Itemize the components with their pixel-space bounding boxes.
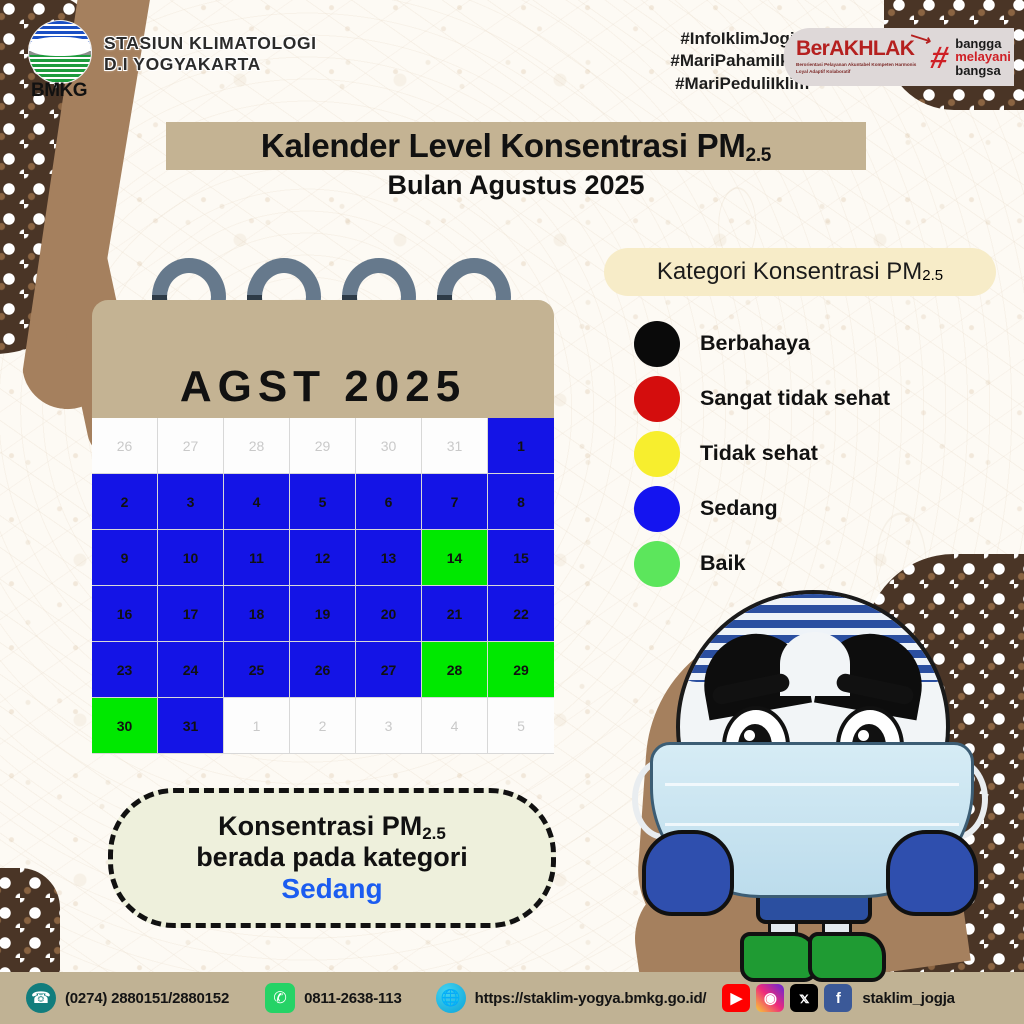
legend-color-dot <box>634 321 680 367</box>
mascot-shoe-left <box>740 932 818 982</box>
calendar-day-cell: 25 <box>224 642 290 698</box>
calendar-day-cell: 28 <box>224 418 290 474</box>
org-line-1: STASIUN KLIMATOLOGI <box>104 33 317 54</box>
footer-social: ▶ ◉ 𝕩 f staklim_jogja <box>722 984 954 1012</box>
calendar-day-cell: 1 <box>224 698 290 754</box>
bmb-line-2: melayani <box>955 50 1011 63</box>
calendar-day-cell: 7 <box>422 474 488 530</box>
calendar-day-cell: 27 <box>356 642 422 698</box>
page-title-text: Kalender Level Konsentrasi PM <box>261 127 746 164</box>
legend-color-dot <box>634 486 680 532</box>
footer-whatsapp-text: 0811-2638-113 <box>304 990 402 1007</box>
x-twitter-icon[interactable]: 𝕩 <box>790 984 818 1012</box>
calendar-day-cell: 30 <box>356 418 422 474</box>
page-title: Kalender Level Konsentrasi PM2.5 <box>166 124 866 174</box>
legend-item: Sangat tidak sehat <box>634 371 1014 426</box>
facebook-icon[interactable]: f <box>824 984 852 1012</box>
mascot-glove-right <box>886 830 978 916</box>
calendar-day-cell: 23 <box>92 642 158 698</box>
calendar-day-cell: 4 <box>224 474 290 530</box>
calendar-day-cell: 31 <box>158 698 224 754</box>
conclusion-line-2: berada pada kategori <box>196 842 468 873</box>
footer-website[interactable]: 🌐 https://staklim-yogya.bmkg.go.id/ <box>436 983 707 1013</box>
mascot-shoe-right <box>808 932 886 982</box>
calendar-day-cell: 8 <box>488 474 554 530</box>
calendar-day-cell: 5 <box>488 698 554 754</box>
calendar: AGST 2025 262728293031123456789101112131… <box>92 300 554 758</box>
footer-phone-text: (0274) 2880151/2880152 <box>65 990 229 1007</box>
bangga-melayani-bangsa: bangga melayani bangsa <box>955 37 1011 77</box>
instagram-icon[interactable]: ◉ <box>756 984 784 1012</box>
calendar-day-cell: 1 <box>488 418 554 474</box>
footer-website-text: https://staklim-yogya.bmkg.go.id/ <box>475 990 707 1007</box>
calendar-day-cell: 29 <box>290 418 356 474</box>
legend-item: Tidak sehat <box>634 426 1014 481</box>
calendar-day-cell: 16 <box>92 586 158 642</box>
legend-item: Berbahaya <box>634 316 1014 371</box>
legend-color-dot <box>634 376 680 422</box>
page-subtitle: Bulan Agustus 2025 <box>166 170 866 201</box>
bmb-line-3: bangsa <box>955 64 1011 77</box>
calendar-grid: 2627282930311234567891011121314151617181… <box>92 418 554 754</box>
calendar-day-cell: 11 <box>224 530 290 586</box>
conclusion-line-1-text: Konsentrasi PM <box>218 811 422 841</box>
calendar-month-label: AGST 2025 <box>92 362 554 412</box>
footer-phone[interactable]: ☎ (0274) 2880151/2880152 <box>26 983 229 1013</box>
bmkg-emblem-icon <box>28 20 92 84</box>
youtube-icon[interactable]: ▶ <box>722 984 750 1012</box>
berakhlak-wordmark: BerAKHLAK ⟶ <box>796 38 924 59</box>
calendar-day-cell: 30 <box>92 698 158 754</box>
whatsapp-icon: ✆ <box>265 983 295 1013</box>
berakhlak-left: BerAKHLAK ⟶ Berorientasi Pelayanan Akunt… <box>796 38 924 76</box>
calendar-day-cell: 10 <box>158 530 224 586</box>
calendar-day-cell: 2 <box>92 474 158 530</box>
conclusion-box: Konsentrasi PM2.5 berada pada kategori S… <box>108 788 556 928</box>
calendar-day-cell: 18 <box>224 586 290 642</box>
calendar-day-cell: 21 <box>422 586 488 642</box>
phone-icon: ☎ <box>26 983 56 1013</box>
conclusion-subscript: 2.5 <box>422 824 446 843</box>
calendar-day-cell: 2 <box>290 698 356 754</box>
calendar-day-cell: 3 <box>158 474 224 530</box>
bmb-line-1: bangga <box>955 37 1011 50</box>
mascot-illustration <box>636 580 984 970</box>
conclusion-category: Sedang <box>281 873 382 905</box>
bmkg-logo: BMKG <box>22 20 96 102</box>
calendar-day-cell: 12 <box>290 530 356 586</box>
footer-social-handle: staklim_jogja <box>862 990 954 1007</box>
calendar-day-cell: 29 <box>488 642 554 698</box>
legend-item-label: Sangat tidak sehat <box>700 386 890 411</box>
berakhlak-word-text: BerAKHLAK <box>796 37 914 60</box>
calendar-day-cell: 14 <box>422 530 488 586</box>
berakhlak-logo: BerAKHLAK ⟶ Berorientasi Pelayanan Akunt… <box>784 28 1014 86</box>
legend-heading-subscript: 2.5 <box>922 267 943 284</box>
calendar-day-cell: 20 <box>356 586 422 642</box>
calendar-day-cell: 26 <box>92 418 158 474</box>
calendar-day-cell: 9 <box>92 530 158 586</box>
calendar-day-cell: 22 <box>488 586 554 642</box>
poster-canvas: BMKG STASIUN KLIMATOLOGI D.I YOGYAKARTA … <box>0 0 1024 1024</box>
org-line-2: D.I YOGYAKARTA <box>104 54 317 75</box>
legend-item-label: Baik <box>700 551 745 576</box>
page-title-subscript: 2.5 <box>746 145 772 166</box>
legend-item: Sedang <box>634 481 1014 536</box>
calendar-day-cell: 17 <box>158 586 224 642</box>
legend-heading-text: Kategori Konsentrasi PM <box>657 258 922 286</box>
calendar-day-cell: 24 <box>158 642 224 698</box>
calendar-day-cell: 3 <box>356 698 422 754</box>
conclusion-line-1: Konsentrasi PM2.5 <box>218 811 446 842</box>
calendar-day-cell: 4 <box>422 698 488 754</box>
globe-icon: 🌐 <box>436 983 466 1013</box>
bangga-melayani-hash-icon: # <box>928 42 952 73</box>
bmkg-land-band <box>29 54 91 83</box>
mascot-glove-left <box>642 830 734 916</box>
berakhlak-tagline: Berorientasi Pelayanan Akuntabel Kompete… <box>796 62 924 76</box>
calendar-day-cell: 13 <box>356 530 422 586</box>
legend-heading-pill: Kategori Konsentrasi PM2.5 <box>604 248 996 296</box>
legend-item-label: Tidak sehat <box>700 441 818 466</box>
calendar-day-cell: 6 <box>356 474 422 530</box>
calendar-day-cell: 27 <box>158 418 224 474</box>
calendar-day-cell: 15 <box>488 530 554 586</box>
organization-name: STASIUN KLIMATOLOGI D.I YOGYAKARTA <box>104 33 317 76</box>
batik-corner-bottom-left <box>0 868 60 988</box>
bmkg-wordmark: BMKG <box>22 80 96 102</box>
calendar-day-cell: 5 <box>290 474 356 530</box>
calendar-day-cell: 31 <box>422 418 488 474</box>
legend-color-dot <box>634 431 680 477</box>
legend-item-label: Berbahaya <box>700 331 810 356</box>
calendar-day-cell: 26 <box>290 642 356 698</box>
legend-item-label: Sedang <box>700 496 778 521</box>
calendar-day-cell: 28 <box>422 642 488 698</box>
legend-list: BerbahayaSangat tidak sehatTidak sehatSe… <box>634 316 1014 591</box>
footer-whatsapp[interactable]: ✆ 0811-2638-113 <box>265 983 402 1013</box>
calendar-day-cell: 19 <box>290 586 356 642</box>
bmkg-cloud-shape <box>28 37 92 56</box>
